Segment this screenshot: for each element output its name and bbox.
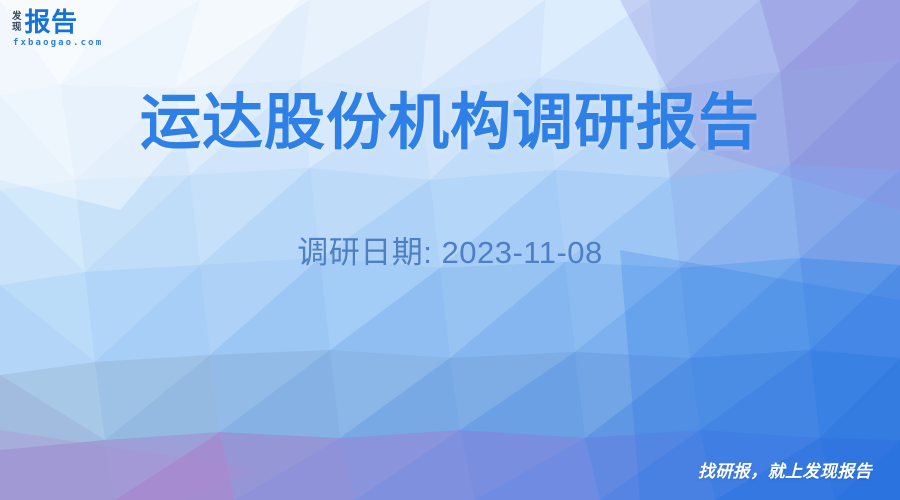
logo-domain: fxbaogao.com [13,38,192,49]
footer-slogan: 找研报，就上发现报告 [698,461,872,483]
logo-char-xian: 现 [12,22,22,33]
logo-wordmark-row: 发 现 报告 [12,9,192,36]
brand-logo[interactable]: 发 现 报告 fxbaogao.com [12,9,192,49]
logo-wordmark: 报告 [25,9,78,36]
logo-stacked-chars: 发 现 [12,9,22,33]
report-cover-slide: 发 现 报告 fxbaogao.com 运达股份机构调研报告 调研日期: 202… [0,0,900,500]
low-poly-background [0,0,900,500]
logo-char-fa: 发 [12,11,22,22]
